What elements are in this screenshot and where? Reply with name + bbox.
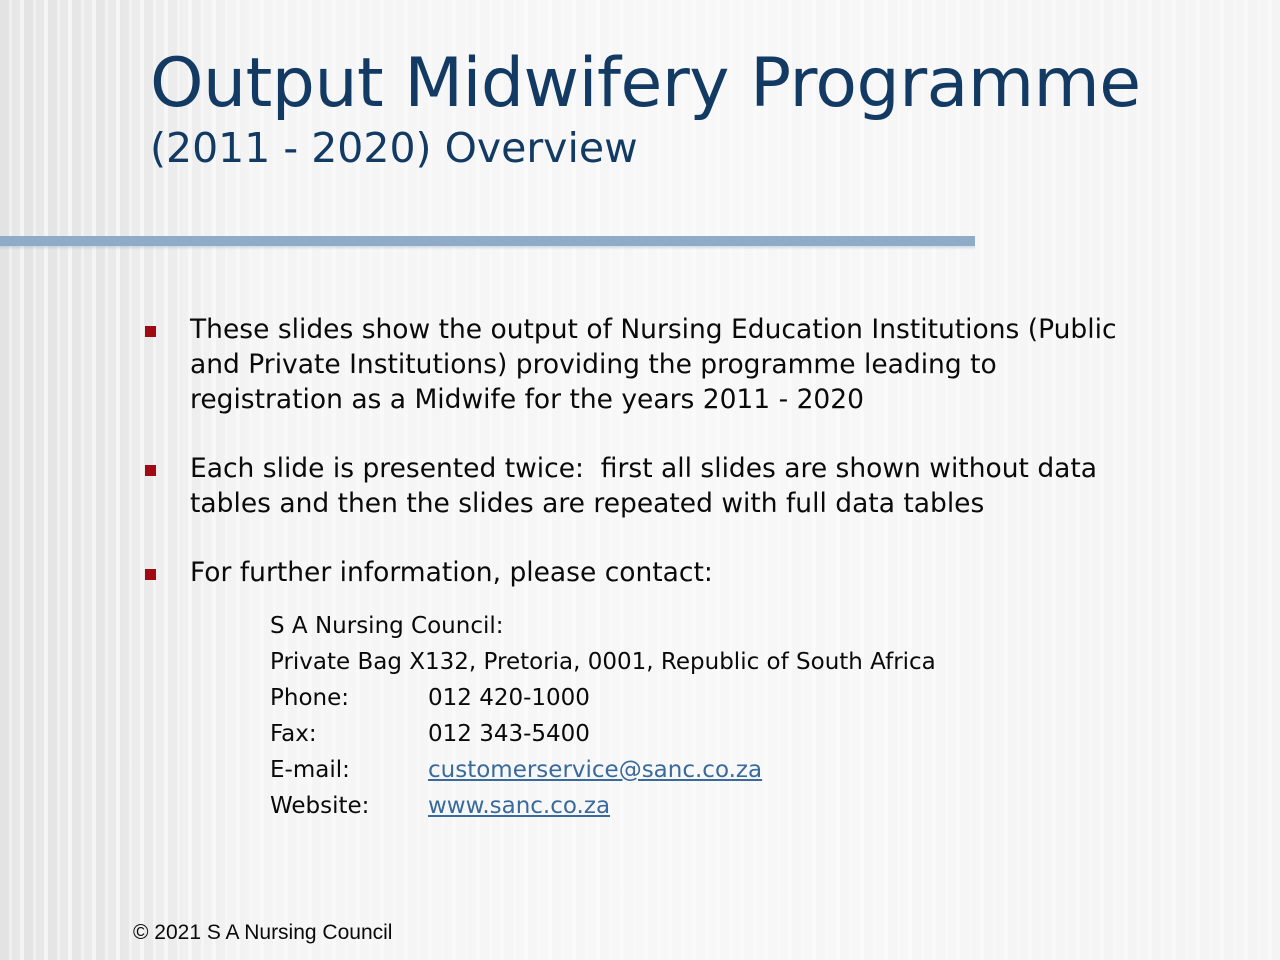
contact-website-row: Website:www.sanc.co.za (270, 788, 1170, 824)
contact-website-label: Website: (270, 788, 428, 824)
title-divider-shadow (0, 246, 975, 250)
page-subtitle: (2011 - 2020) Overview (150, 126, 1150, 171)
square-bullet-icon (145, 465, 156, 476)
contact-organisation: S A Nursing Council: (270, 608, 1170, 644)
bullet-text: For further information, please contact: (190, 555, 1150, 590)
square-bullet-icon (145, 569, 156, 580)
website-link[interactable]: www.sanc.co.za (428, 793, 610, 819)
contact-fax-label: Fax: (270, 716, 428, 752)
title-divider-bar (0, 236, 975, 246)
contact-address: Private Bag X132, Pretoria, 0001, Republ… (270, 644, 1170, 680)
list-item: Each slide is presented twice: first all… (0, 451, 1280, 521)
bullet-list: These slides show the output of Nursing … (0, 312, 1280, 624)
page-title: Output Midwifery Programme (150, 50, 1150, 118)
contact-phone-label: Phone: (270, 680, 428, 716)
title-block: Output Midwifery Programme (2011 - 2020)… (150, 50, 1150, 171)
list-item: For further information, please contact: (0, 555, 1280, 590)
contact-phone-row: Phone:012 420-1000 (270, 680, 1170, 716)
copyright-footer: © 2021 S A Nursing Council (133, 921, 392, 945)
contact-email-label: E-mail: (270, 752, 428, 788)
contact-fax-value: 012 343-5400 (428, 721, 590, 747)
contact-email-row: E-mail:customerservice@sanc.co.za (270, 752, 1170, 788)
bullet-text: Each slide is presented twice: first all… (190, 451, 1150, 521)
email-link[interactable]: customerservice@sanc.co.za (428, 757, 762, 783)
contact-details-block: S A Nursing Council: Private Bag X132, P… (270, 608, 1170, 824)
slide-canvas: Output Midwifery Programme (2011 - 2020)… (0, 0, 1280, 960)
list-item: These slides show the output of Nursing … (0, 312, 1280, 417)
contact-fax-row: Fax:012 343-5400 (270, 716, 1170, 752)
square-bullet-icon (145, 326, 156, 337)
contact-phone-value: 012 420-1000 (428, 685, 590, 711)
bullet-text: These slides show the output of Nursing … (190, 312, 1150, 417)
